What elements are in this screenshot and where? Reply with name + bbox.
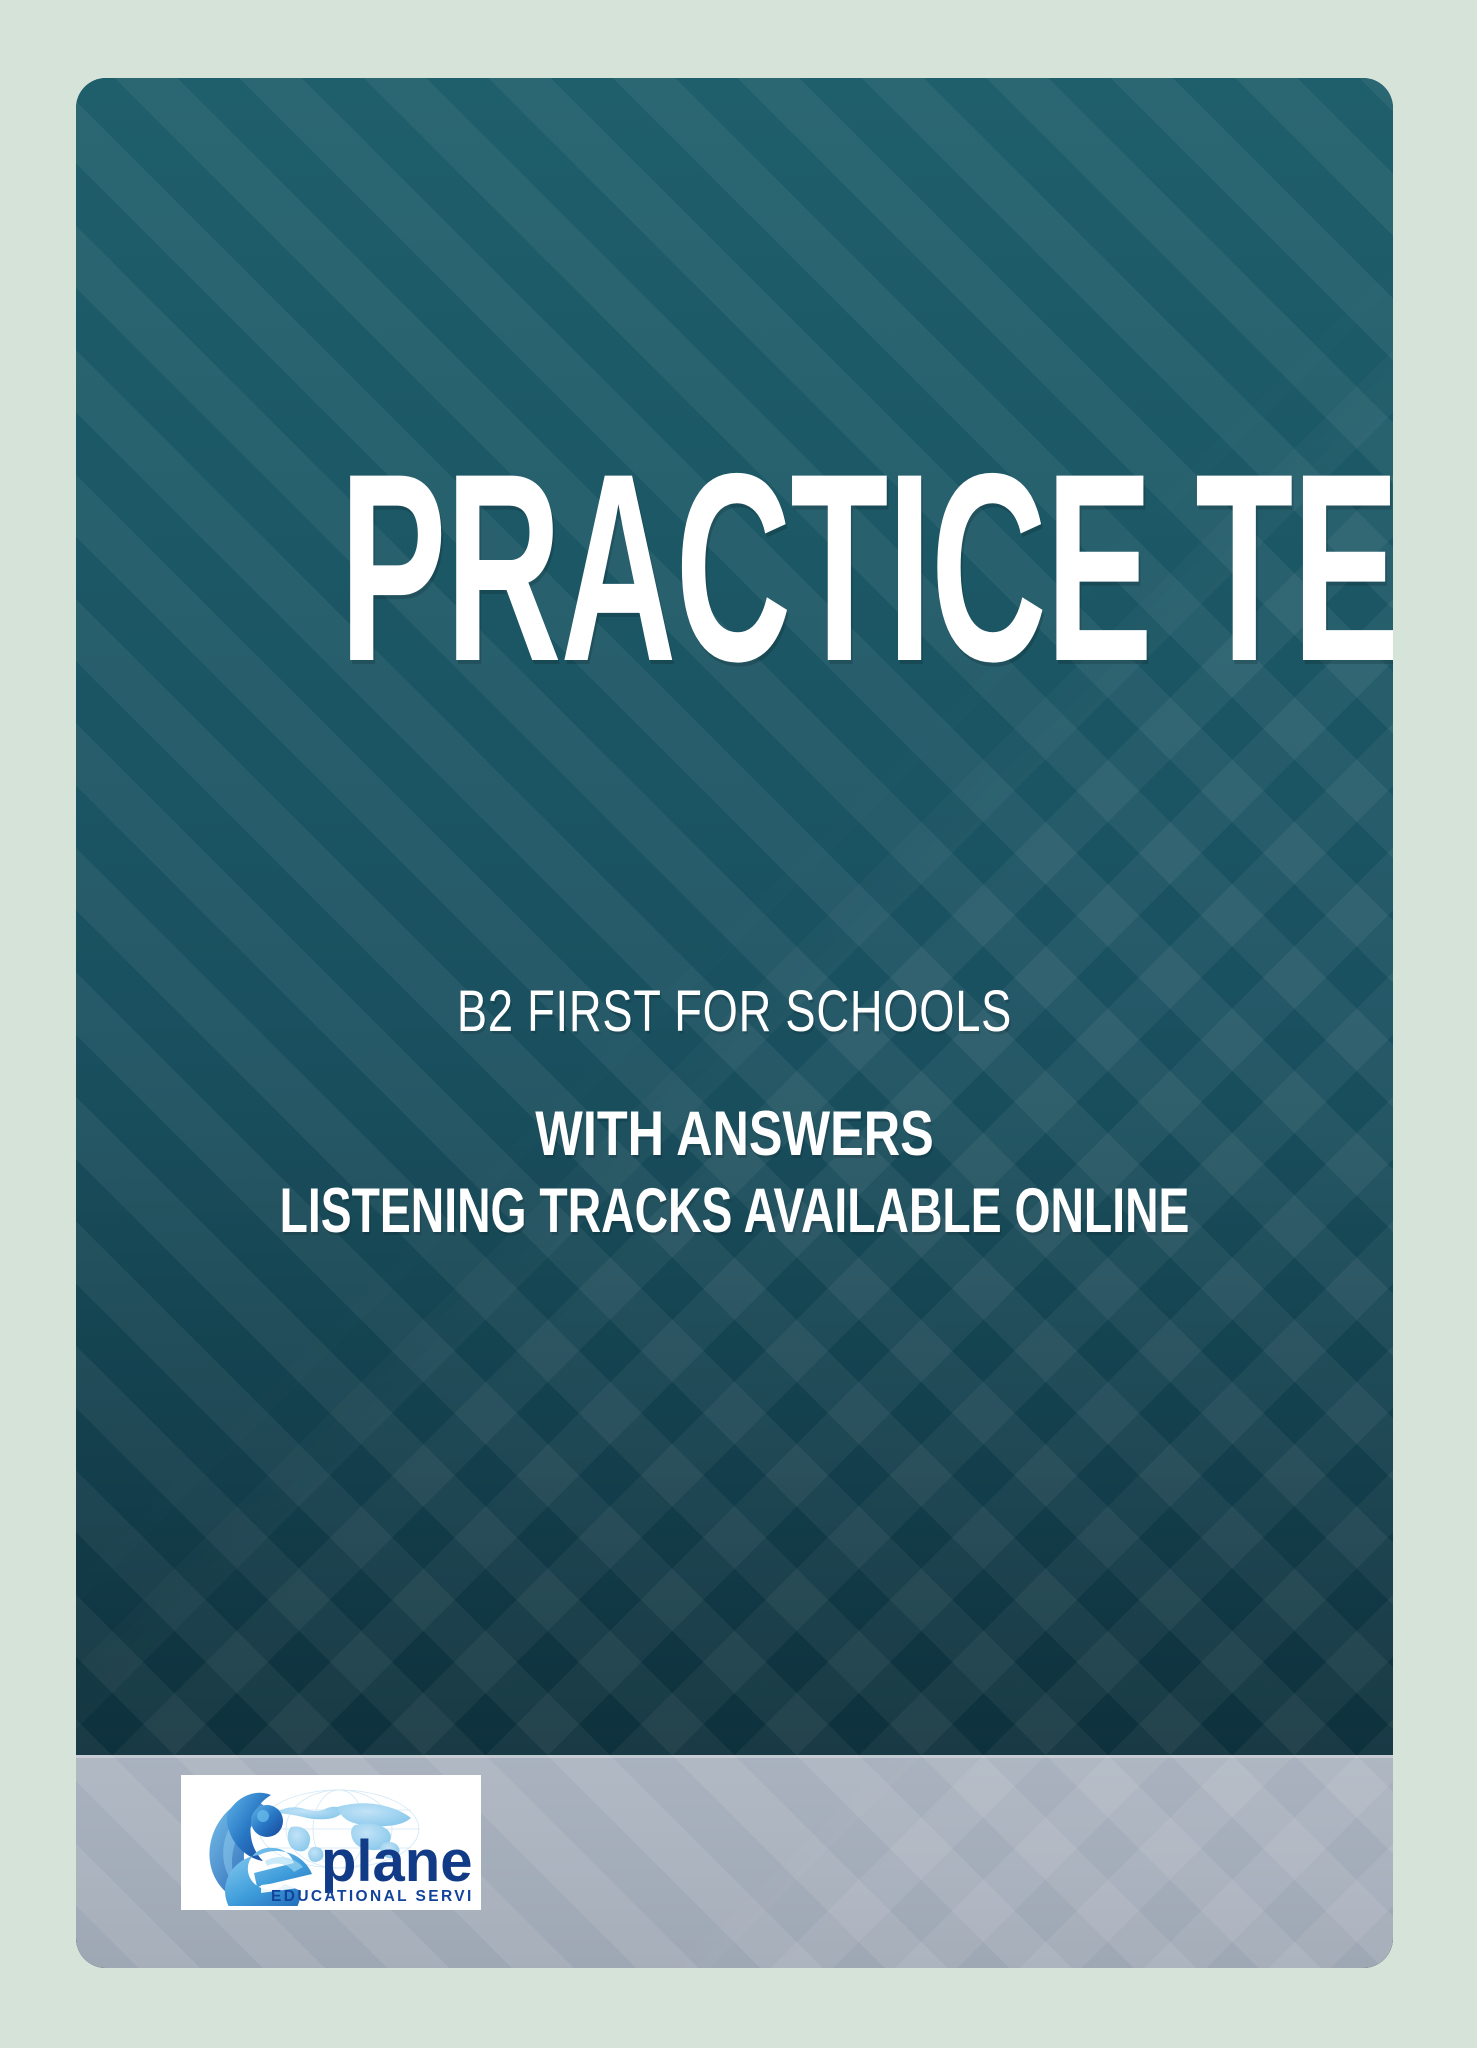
subtitle-exam-level: B2 FIRST FOR SCHOOLS	[221, 978, 1248, 1045]
book-cover-card: PRACTICE TESTS B2 FIRST FOR SCHOOLS WITH…	[76, 78, 1393, 1968]
publisher-logo: planet EDUCATIONAL SERVICES	[181, 1775, 481, 1910]
logo-wordmark: planet	[321, 1829, 473, 1894]
logo-tagline: EDUCATIONAL SERVICES	[271, 1888, 473, 1905]
publisher-logo-inner: planet EDUCATIONAL SERVICES	[187, 1781, 473, 1906]
footer-band-top-rule	[76, 1755, 1393, 1758]
eplanet-logo-icon: planet EDUCATIONAL SERVICES	[187, 1781, 473, 1906]
page-background: PRACTICE TESTS B2 FIRST FOR SCHOOLS WITH…	[0, 0, 1477, 2048]
subtitle-with-answers: WITH ANSWERS	[208, 1098, 1262, 1170]
figure-head	[251, 1805, 283, 1837]
page-title: PRACTICE TESTS	[339, 436, 1129, 699]
subtitle-listening-tracks: LISTENING TRACKS AVAILABLE ONLINE	[251, 1175, 1219, 1247]
